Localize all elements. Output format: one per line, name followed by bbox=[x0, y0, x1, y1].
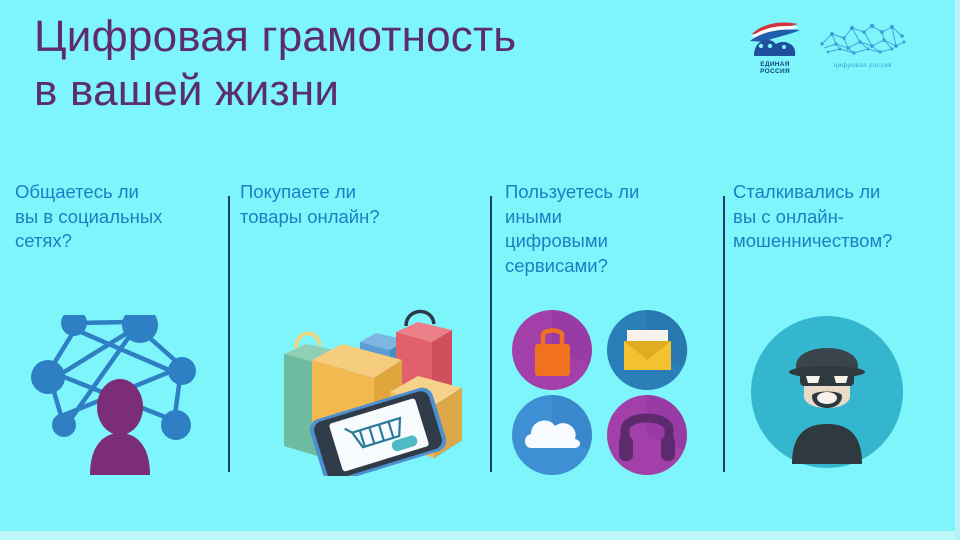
right-edge-strip bbox=[955, 0, 960, 540]
logo-edinaya-rossiya: ЕДИНАЯ РОССИЯ bbox=[746, 18, 804, 76]
illustration-online-shopping bbox=[262, 296, 472, 481]
column-heading-fraud: Сталкивались ли вы с онлайн- мошенничест… bbox=[733, 180, 955, 254]
logo-cifrovaya-rossiya-label: цифровая россия bbox=[834, 63, 892, 69]
column-heading-social: Общаетесь ли вы в социальных сетях? bbox=[15, 180, 227, 254]
slide-canvas: Цифровая грамотность в вашей жизни ЕДИНА… bbox=[0, 0, 960, 540]
illustration-digital-services bbox=[505, 308, 705, 483]
page-title: Цифровая грамотность в вашей жизни bbox=[34, 10, 694, 117]
column-divider bbox=[723, 196, 725, 472]
column-heading-shopping: Покупаете ли товары онлайн? bbox=[240, 180, 462, 229]
bottom-edge-strip bbox=[0, 531, 960, 540]
illustration-online-fraud bbox=[742, 312, 912, 482]
cloud-icon bbox=[512, 395, 592, 475]
logo-cifrovaya-rossiya: цифровая россия bbox=[818, 18, 908, 69]
social-network-icon bbox=[30, 315, 210, 475]
online-shopping-icon bbox=[262, 296, 472, 476]
logo-edinaya-rossiya-label: ЕДИНАЯ РОССИЯ bbox=[760, 61, 790, 76]
bear-flag-icon bbox=[746, 18, 804, 60]
logo-group: ЕДИНАЯ РОССИЯ bbox=[746, 18, 908, 76]
russia-network-map-icon bbox=[818, 18, 908, 62]
column-heading-services: Пользуетесь ли иными цифровыми сервисами… bbox=[505, 180, 720, 278]
online-fraud-icon bbox=[742, 312, 912, 477]
column-divider bbox=[490, 196, 492, 472]
envelope-icon bbox=[607, 310, 687, 390]
digital-services-icon bbox=[505, 308, 705, 478]
column-divider bbox=[228, 196, 230, 472]
illustration-social-network bbox=[30, 315, 210, 480]
headphones-icon bbox=[607, 395, 687, 475]
shopping-bag-icon bbox=[512, 310, 592, 390]
